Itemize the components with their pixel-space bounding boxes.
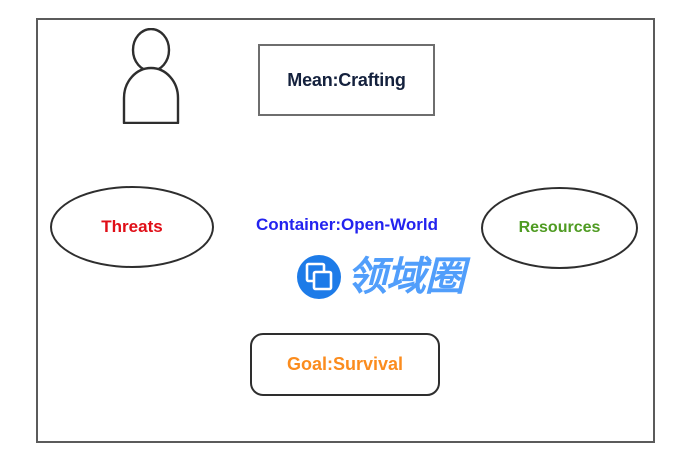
actor-figure-icon: [112, 28, 190, 124]
node-resources[interactable]: Resources: [481, 187, 638, 269]
overlapping-squares-icon: [296, 254, 342, 300]
watermark: 领域圈: [296, 254, 464, 300]
actor-body-icon: [124, 68, 178, 123]
actor-head-icon: [133, 29, 169, 71]
watermark-text: 领域圈: [347, 257, 464, 297]
diagram-canvas: Mean:Crafting Threats Container:Open-Wor…: [0, 0, 684, 463]
node-threats[interactable]: Threats: [50, 186, 214, 268]
node-mean-crafting-label: Mean:Crafting: [287, 70, 405, 91]
node-goal-survival[interactable]: Goal:Survival: [250, 333, 440, 396]
node-threats-label: Threats: [101, 217, 162, 237]
node-resources-label: Resources: [519, 219, 601, 237]
node-goal-survival-label: Goal:Survival: [287, 354, 403, 375]
actor-icon-svg: [112, 28, 190, 124]
watermark-square-front-icon: [314, 272, 331, 289]
node-container-open-world: Container:Open-World: [234, 215, 460, 235]
node-mean-crafting[interactable]: Mean:Crafting: [258, 44, 435, 116]
